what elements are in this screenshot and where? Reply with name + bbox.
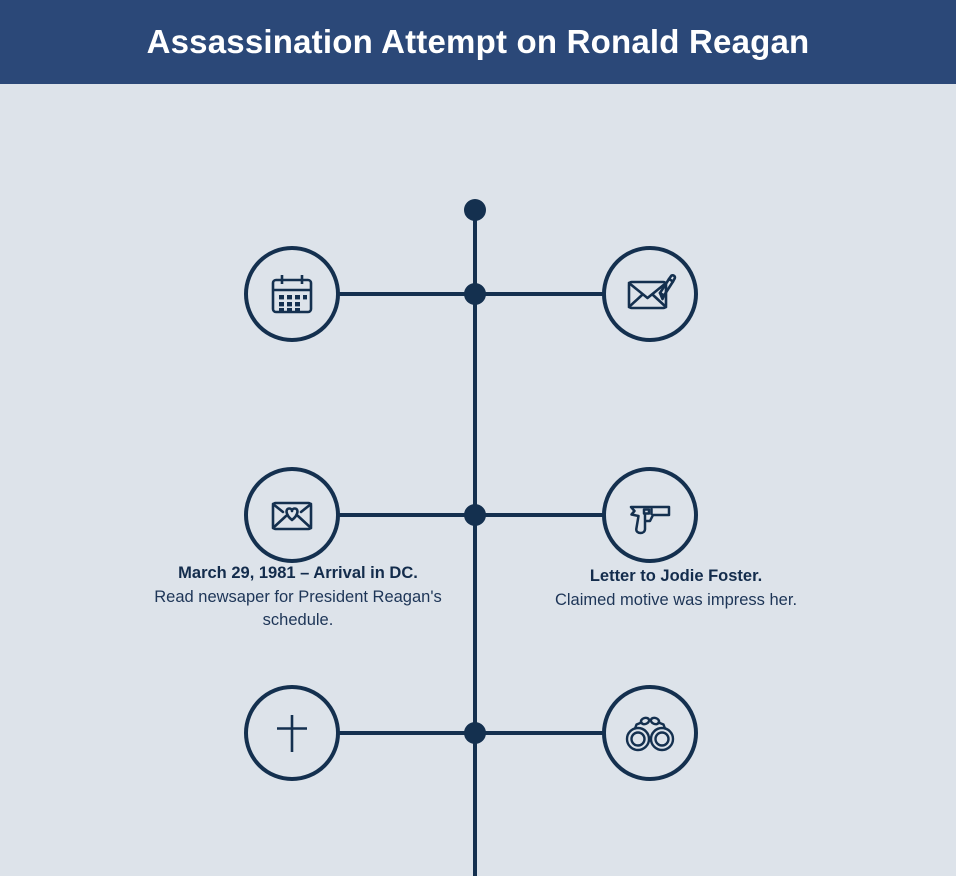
row-1-left-heading: March 29, 1981 – Arrival in DC. bbox=[178, 564, 418, 582]
cross-icon-bubble[interactable] bbox=[244, 685, 340, 781]
envelope-pen-icon-bubble[interactable] bbox=[602, 246, 698, 342]
timeline-infographic: March 29, 1981 – Arrival in DC. Read new… bbox=[0, 84, 956, 876]
row-1-right-body: Claimed motive was impress her. bbox=[555, 591, 797, 609]
timeline-node-2 bbox=[464, 504, 486, 526]
handcuffs-icon-bubble[interactable] bbox=[602, 685, 698, 781]
calendar-icon bbox=[265, 267, 319, 321]
timeline-start-dot bbox=[464, 199, 486, 221]
row-1-right-heading: Letter to Jodie Foster. bbox=[590, 567, 762, 585]
envelope-heart-icon-bubble[interactable] bbox=[244, 467, 340, 563]
calendar-icon-bubble[interactable] bbox=[244, 246, 340, 342]
row-1-left-caption: March 29, 1981 – Arrival in DC. Read new… bbox=[140, 562, 456, 633]
page-header: Assassination Attempt on Ronald Reagan bbox=[0, 0, 956, 84]
page-title: Assassination Attempt on Ronald Reagan bbox=[147, 23, 810, 61]
cross-icon bbox=[265, 706, 319, 760]
envelope-heart-icon bbox=[265, 488, 319, 542]
row-1-right-caption: Letter to Jodie Foster. Claimed motive w… bbox=[518, 565, 834, 612]
handgun-icon-bubble[interactable] bbox=[602, 467, 698, 563]
envelope-pen-icon bbox=[622, 267, 678, 321]
timeline-node-1 bbox=[464, 283, 486, 305]
timeline-spine bbox=[473, 210, 477, 876]
timeline-node-3 bbox=[464, 722, 486, 744]
handgun-icon bbox=[622, 488, 678, 542]
handcuffs-icon bbox=[621, 708, 679, 758]
row-1-left-body: Read newsaper for President Reagan's sch… bbox=[154, 588, 442, 630]
